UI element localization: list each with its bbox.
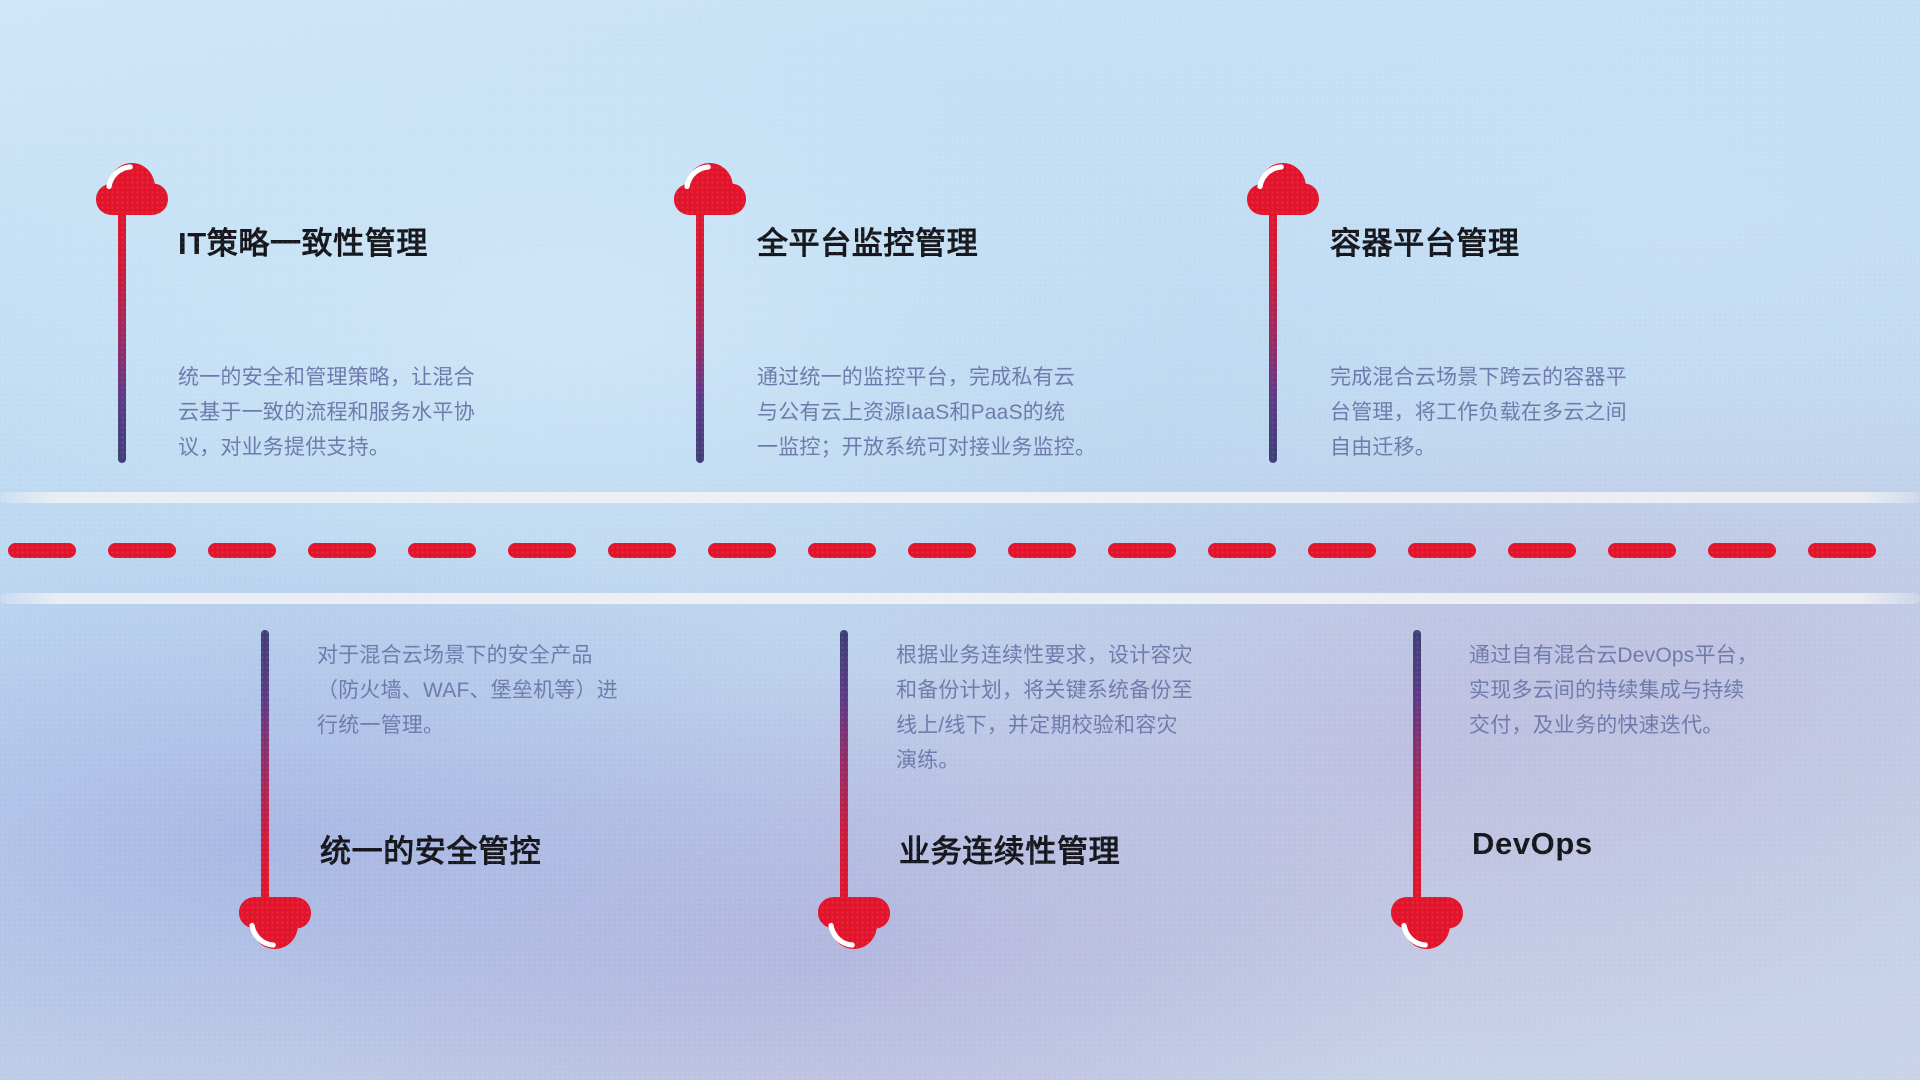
top-column-1-heading: IT策略一致性管理 [178,218,428,263]
divider-dash [708,543,776,558]
divider-dash [1608,543,1676,558]
connector-stem [1269,208,1277,463]
divider-dash [1008,543,1076,558]
divider-line-bottom [0,593,1920,604]
bottom-column-3-body: 通过自有混合云DevOps平台， 实现多云间的持续集成与持续 交付，及业务的快速… [1469,638,1899,743]
divider-dash [108,543,176,558]
cloud-icon [673,160,747,216]
top-column-1-body: 统一的安全和管理策略，让混合 云基于一致的流程和服务水平协 议，对业务提供支持。 [178,360,608,465]
divider-dash [1808,543,1876,558]
connector-stem [696,208,704,463]
divider-dash [408,543,476,558]
bottom-column-2-heading: 业务连续性管理 [899,826,1120,871]
top-column-3-heading: 容器平台管理 [1330,218,1520,263]
divider-dash [1508,543,1576,558]
divider-dash [608,543,676,558]
bottom-column-1-body: 对于混合云场景下的安全产品 （防火墙、WAF、堡垒机等）进 行统一管理。 [317,638,747,743]
divider-dash [208,543,276,558]
divider-dash [908,543,976,558]
divider-dash [808,543,876,558]
top-column-2-heading: 全平台监控管理 [757,218,978,263]
divider-dashed-line [0,542,1920,558]
divider-dash [1708,543,1776,558]
connector-stem [118,208,126,463]
connector-stem [1413,630,1421,900]
cloud-icon [238,896,312,952]
connector-stem [840,630,848,900]
bottom-column-2-body: 根据业务连续性要求，设计容灾 和备份计划，将关键系统备份至 线上/线下，并定期校… [896,638,1336,778]
divider-dash [508,543,576,558]
divider-line-top [0,492,1920,503]
divider-dash [1408,543,1476,558]
connector-stem [261,630,269,900]
cloud-icon [1390,896,1464,952]
divider-dash [1308,543,1376,558]
cloud-icon [95,160,169,216]
cloud-icon [1246,160,1320,216]
cloud-icon [817,896,891,952]
top-column-3-body: 完成混合云场景下跨云的容器平 台管理，将工作负载在多云之间 自由迁移。 [1330,360,1760,465]
divider-dash [1208,543,1276,558]
top-column-2-body: 通过统一的监控平台，完成私有云 与公有云上资源IaaS和PaaS的统 一监控；开… [757,360,1197,465]
bottom-column-1-heading: 统一的安全管控 [320,826,541,871]
divider-dash [308,543,376,558]
divider-dash [8,543,76,558]
divider-dash [1108,543,1176,558]
bottom-column-3-heading: DevOps [1472,826,1593,862]
infographic-canvas: IT策略一致性管理 统一的安全和管理策略，让混合 云基于一致的流程和服务水平协 … [0,0,1920,1080]
